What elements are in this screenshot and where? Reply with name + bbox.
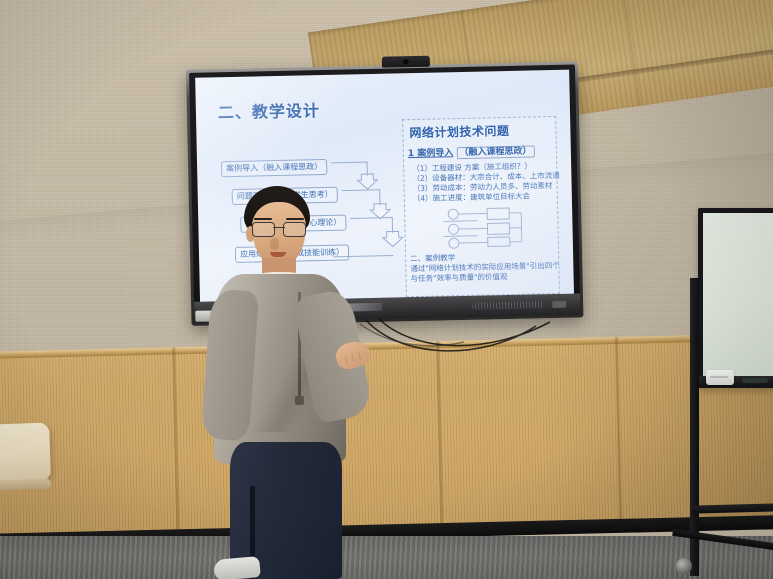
camera-bar-icon: [382, 56, 430, 68]
panel-list-item: （4）施工进度：建筑单位目标大会: [413, 191, 555, 204]
panel-heading: 1 案例导入 （融入课程思政）: [408, 143, 535, 159]
glasses-icon: [252, 222, 306, 235]
eyebrow-right: [286, 218, 304, 220]
panel-heading-text: 1 案例导入: [408, 148, 454, 159]
front-desk: [0, 423, 51, 484]
eraser-icon[interactable]: [706, 370, 734, 385]
speaker-grille-icon: [472, 301, 544, 310]
panel-heading-boxed: （融入课程思政）: [456, 145, 534, 159]
caster-wheel-icon: [676, 558, 692, 574]
mouth: [270, 252, 286, 257]
network-plan-diagram: [441, 205, 534, 249]
power-button[interactable]: [552, 301, 566, 308]
presenter: [196, 186, 386, 579]
classroom-photo-scene: 二、教学设计 案例导入（融入课程思政） 问题驱动（引导学生思考） 星知识点讲解（…: [0, 0, 773, 579]
network-diagram-svg: [441, 205, 534, 249]
display-cables: [360, 316, 620, 376]
glasses-lens-right: [283, 222, 306, 237]
panel-footer: 二、案例教学 通过"网络计划技术的实际应用场景"引出四个 与任务"效率与质量"的…: [410, 251, 557, 284]
whiteboard-surface[interactable]: [698, 208, 773, 388]
nose: [270, 238, 279, 250]
marker-icon[interactable]: [742, 378, 768, 383]
carpet-floor: [0, 536, 773, 579]
shoe: [213, 556, 261, 579]
mobile-whiteboard[interactable]: [690, 208, 773, 579]
panel-footer-line: 与任务"效率与质量"的价值观: [411, 271, 557, 284]
slide-right-panel: 网络计划技术问题 1 案例导入 （融入课程思政） （1）工程建设 方案（施工组织…: [402, 116, 560, 297]
glasses-bridge: [273, 227, 285, 228]
whiteboard-crossbar: [692, 502, 773, 513]
flow-box-1: 案例导入（融入课程思政）: [221, 159, 327, 177]
panel-title: 网络计划技术问题: [409, 122, 509, 141]
slide-title: 二、教学设计: [218, 97, 321, 123]
eyebrow-left: [254, 218, 272, 220]
glasses-lens-left: [252, 222, 275, 237]
panel-list: （1）工程建设 方案（施工组织？） （2）设备器材：大宗合计、成本、上市流通 （…: [412, 161, 555, 204]
